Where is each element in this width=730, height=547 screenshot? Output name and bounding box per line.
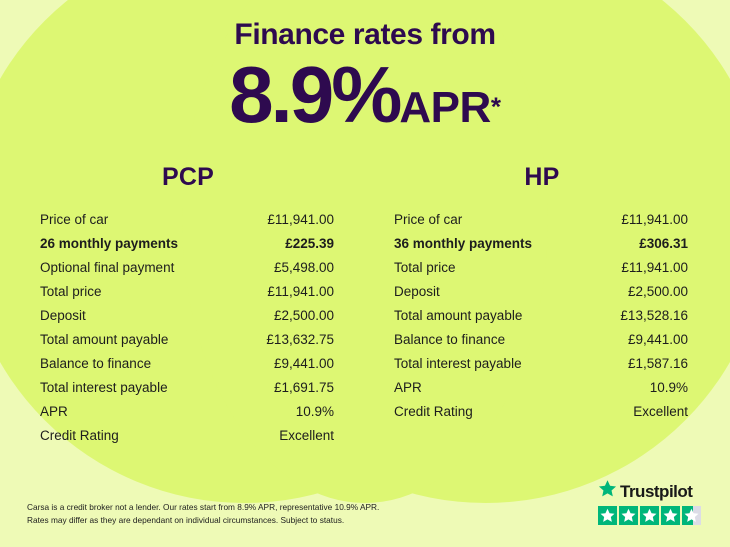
table-row: 36 monthly payments £306.31 [388,231,696,255]
row-value: £11,941.00 [267,212,334,227]
row-label: Total price [40,284,102,299]
rating-star-4 [661,506,680,525]
poster-footer: Carsa is a credit broker not a lender. O… [0,477,730,547]
row-value: £1,587.16 [628,356,688,371]
rating-star-3 [640,506,659,525]
table-row: Price of car £11,941.00 [388,207,696,231]
table-row: Deposit £2,500.00 [34,303,342,327]
row-value: £9,441.00 [274,356,334,371]
row-label: Deposit [40,308,86,323]
table-row: Balance to finance £9,441.00 [34,351,342,375]
row-label: 36 monthly payments [394,236,532,251]
row-label: Credit Rating [40,428,119,443]
row-label: Price of car [394,212,462,227]
row-label: Total interest payable [40,380,168,395]
table-row: Total amount payable £13,632.75 [34,327,342,351]
trustpilot-name: Trustpilot [620,483,692,500]
row-label: Balance to finance [40,356,151,371]
row-label: 26 monthly payments [40,236,178,251]
row-value: Excellent [279,428,334,443]
table-row: Price of car £11,941.00 [34,207,342,231]
row-label: Deposit [394,284,440,299]
rating-star-1 [598,506,617,525]
plan-pcp: PCP Price of car £11,941.00 26 monthly p… [34,163,342,447]
table-row: Total price £11,941.00 [388,255,696,279]
table-row: APR 10.9% [34,399,342,423]
trustpilot-star-rating [598,506,710,525]
plan-pcp-rows: Price of car £11,941.00 26 monthly payme… [34,207,342,447]
legal-disclaimer: Carsa is a credit broker not a lender. O… [27,501,379,527]
plan-hp: HP Price of car £11,941.00 36 monthly pa… [388,163,696,447]
row-value: 10.9% [650,380,688,395]
row-label: Total amount payable [40,332,168,347]
row-label: APR [394,380,422,395]
plan-pcp-title: PCP [34,163,342,192]
rate-asterisk: * [491,92,501,122]
rating-star-5-partial [682,506,701,525]
table-row: Balance to finance £9,441.00 [388,327,696,351]
headline-block: Finance rates from 8.9%APR* [0,0,730,135]
trustpilot-wordmark: Trustpilot [598,479,710,503]
row-label: Total interest payable [394,356,522,371]
table-row: Total amount payable £13,528.16 [388,303,696,327]
poster-content: Finance rates from 8.9%APR* PCP Price of… [0,0,730,547]
row-value: £1,691.75 [274,380,334,395]
row-label: Price of car [40,212,108,227]
table-row: Total interest payable £1,587.16 [388,351,696,375]
finance-rates-poster: Finance rates from 8.9%APR* PCP Price of… [0,0,730,547]
row-value: £11,941.00 [621,212,688,227]
row-value: 10.9% [296,404,334,419]
table-row: Total price £11,941.00 [34,279,342,303]
row-label: APR [40,404,68,419]
row-value: £13,528.16 [620,308,688,323]
row-label: Total amount payable [394,308,522,323]
table-row: Deposit £2,500.00 [388,279,696,303]
row-value: £11,941.00 [621,260,688,275]
rating-star-2 [619,506,638,525]
disclaimer-line-2: Rates may differ as they are dependant o… [27,514,379,527]
table-row: Credit Rating Excellent [34,423,342,447]
row-label: Credit Rating [394,404,473,419]
row-label: Balance to finance [394,332,505,347]
row-value: Excellent [633,404,688,419]
page-title: Finance rates from [0,18,730,51]
table-row: Optional final payment £5,498.00 [34,255,342,279]
rate-apr-label: APR [399,83,490,132]
row-value: £2,500.00 [274,308,334,323]
table-row: 26 monthly payments £225.39 [34,231,342,255]
row-value: £5,498.00 [274,260,334,275]
finance-comparison-tables: PCP Price of car £11,941.00 26 monthly p… [0,163,730,447]
table-row: Credit Rating Excellent [388,399,696,423]
rate-percentage: 8.9% [229,50,399,139]
table-row: Total interest payable £1,691.75 [34,375,342,399]
row-value: £13,632.75 [266,332,334,347]
star-icon [598,479,617,503]
plan-hp-title: HP [388,163,696,192]
table-row: APR 10.9% [388,375,696,399]
rate-headline: 8.9%APR* [0,55,730,135]
row-value: £2,500.00 [628,284,688,299]
trustpilot-widget[interactable]: Trustpilot [598,479,710,525]
plan-hp-rows: Price of car £11,941.00 36 monthly payme… [388,207,696,423]
row-value: £306.31 [639,236,688,251]
row-label: Total price [394,260,456,275]
row-value: £9,441.00 [628,332,688,347]
row-label: Optional final payment [40,260,174,275]
row-value: £225.39 [285,236,334,251]
disclaimer-line-1: Carsa is a credit broker not a lender. O… [27,501,379,514]
row-value: £11,941.00 [267,284,334,299]
